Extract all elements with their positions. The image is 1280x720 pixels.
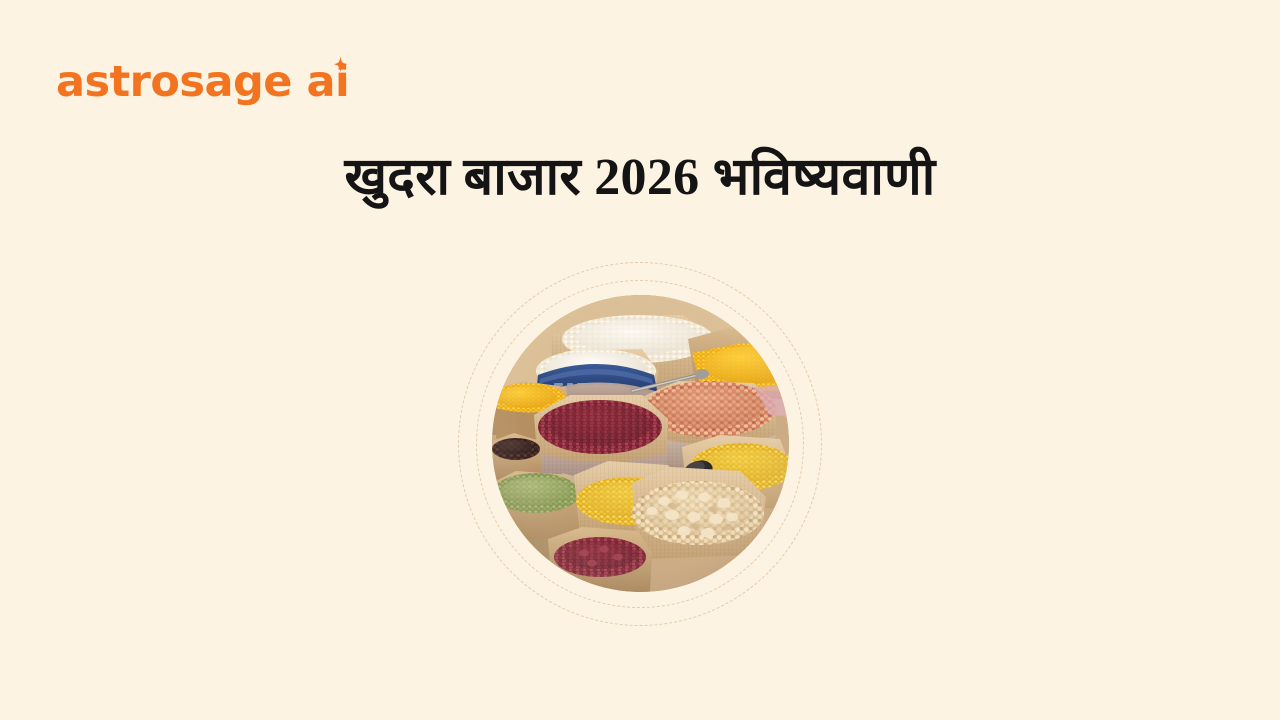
brand-logo[interactable]: astrosage ai	[56, 56, 349, 108]
hero-photo	[492, 295, 789, 592]
page-title: खुदरा बाजार 2026 भविष्यवाणी	[0, 143, 1280, 213]
poster-canvas: astrosage ai खुदरा बाजार 2026 भविष्यवाणी	[0, 0, 1280, 720]
brand-logo-text: astrosage ai	[56, 56, 349, 108]
hero-illustration	[440, 244, 840, 644]
